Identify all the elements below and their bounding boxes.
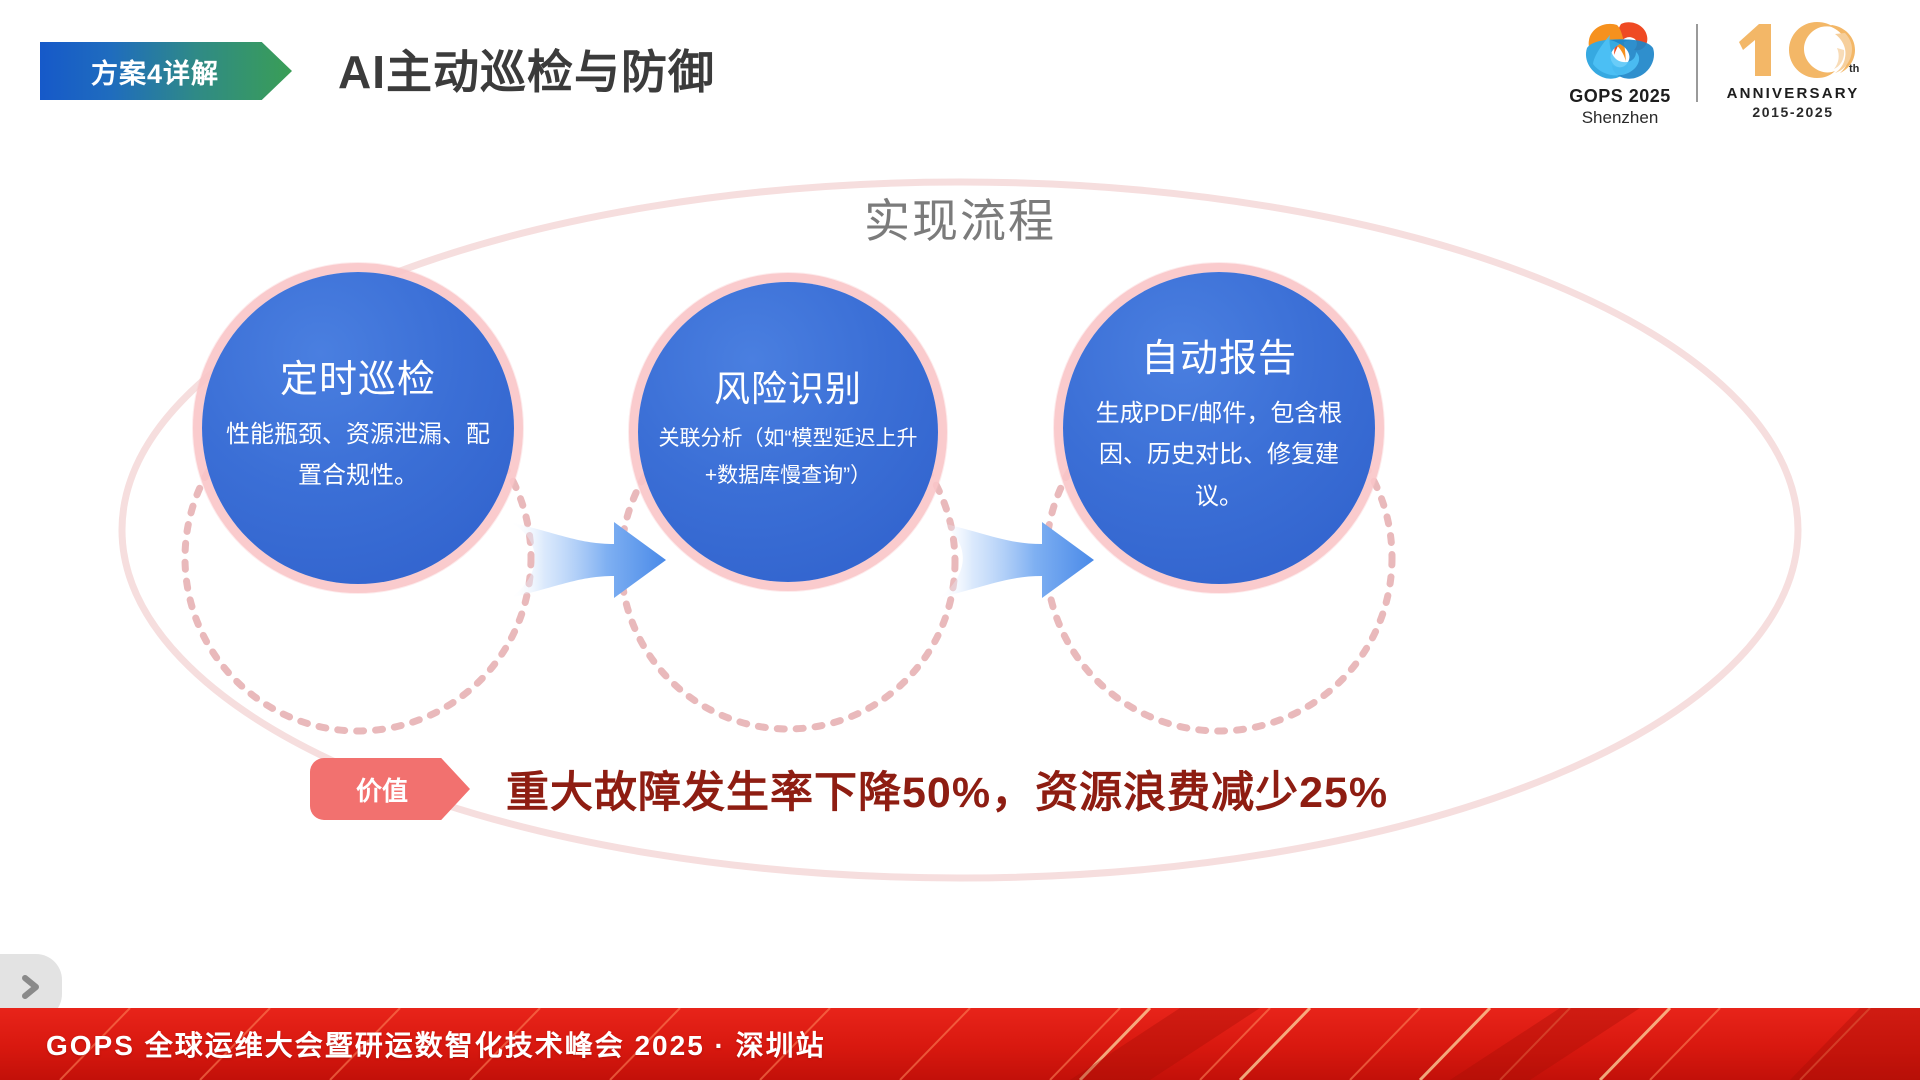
flow-node-title: 定时巡检 (280, 360, 436, 402)
value-tag-label: 价值 (356, 771, 424, 808)
flow-heading: 实现流程 (0, 185, 1920, 251)
flow-node-desc: 性能瓶颈、资源泄漏、配置合规性。 (223, 414, 493, 497)
flow-node-title: 自动报告 (1141, 339, 1297, 381)
ten-anniversary-icon: th (1725, 18, 1861, 82)
logo-years-text: 2015-2025 (1752, 104, 1833, 120)
flow-node-scheduled-inspection[interactable]: 定时巡检 性能瓶颈、资源泄漏、配置合规性。 (202, 272, 514, 584)
event-footer-banner: GOPS 全球运维大会暨研运数智化技术峰会 2025 · 深圳站 (0, 1008, 1920, 1080)
diagram-stage: 实现流程 定时巡检 性能瓶颈、资源泄漏、配置合规性。 风险识别 关联分析（如“模… (0, 130, 1920, 960)
value-tag: 价值 (310, 758, 470, 820)
section-badge: 方案4详解 (40, 42, 292, 100)
logo-gops-text: GOPS 2025 (1569, 86, 1671, 107)
flow-node-desc: 生成PDF/邮件，包含根因、历史对比、修复建议。 (1083, 393, 1355, 517)
logo-anniversary-text: ANNIVERSARY (1727, 85, 1860, 102)
chevron-right-icon (20, 972, 42, 1002)
logo-anniversary-block: th ANNIVERSARY 2015-2025 (1718, 18, 1868, 120)
logo-gops-block: GOPS 2025 Shenzhen (1564, 18, 1676, 128)
conference-logo: GOPS 2025 Shenzhen th ANNIVERSARY 2015-2… (1564, 18, 1868, 128)
footer-event-name: GOPS 全球运维大会暨研运数智化技术峰会 2025 · 深圳站 (46, 1024, 826, 1064)
value-statement-row: 价值 重大故障发生率下降50%，资源浪费减少25% (310, 758, 1388, 820)
flow-node-auto-report[interactable]: 自动报告 生成PDF/邮件，包含根因、历史对比、修复建议。 (1063, 272, 1375, 584)
section-badge-shape: 方案4详解 (40, 42, 292, 100)
flow-node-desc: 关联分析（如“模型延迟上升+数据库慢查询”） (654, 421, 922, 495)
logo-city-text: Shenzhen (1582, 108, 1659, 128)
slide-header: 方案4详解 AI主动巡检与防御 GOPS 2025 Shenzhen (0, 0, 1920, 140)
flow-arrow-2 (938, 522, 1094, 598)
svg-text:th: th (1849, 63, 1860, 75)
gops-swirl-icon (1581, 18, 1659, 84)
page-title: AI主动巡检与防御 (338, 36, 715, 102)
flow-node-title: 风险识别 (714, 369, 862, 409)
logo-divider (1696, 24, 1698, 102)
flow-node-risk-identification[interactable]: 风险识别 关联分析（如“模型延迟上升+数据库慢查询”） (638, 282, 938, 582)
section-badge-label: 方案4详解 (91, 52, 241, 91)
value-statement-text: 重大故障发生率下降50%，资源浪费减少25% (506, 758, 1388, 820)
